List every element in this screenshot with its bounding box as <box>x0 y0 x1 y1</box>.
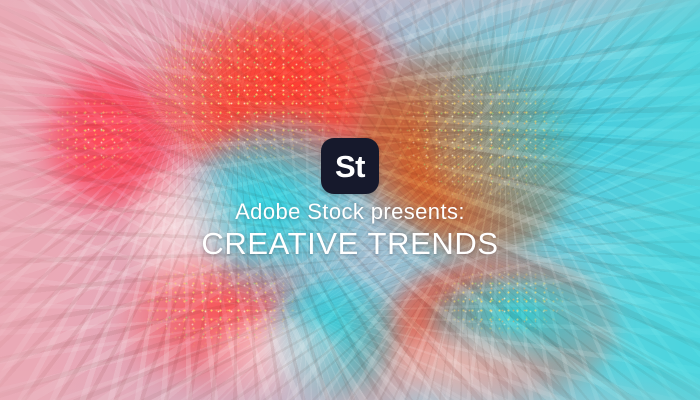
adobe-stock-logo: St <box>321 138 379 194</box>
headline-text: CREATIVE TRENDS <box>0 227 700 260</box>
title-block: Adobe Stock presents: CREATIVE TRENDS <box>0 200 700 260</box>
adobe-stock-logo-mark: St <box>335 151 365 182</box>
overlay-content: St Adobe Stock presents: CREATIVE TRENDS <box>0 0 700 400</box>
kicker-text: Adobe Stock presents: <box>0 200 700 224</box>
hero-banner: St Adobe Stock presents: CREATIVE TRENDS <box>0 0 700 400</box>
